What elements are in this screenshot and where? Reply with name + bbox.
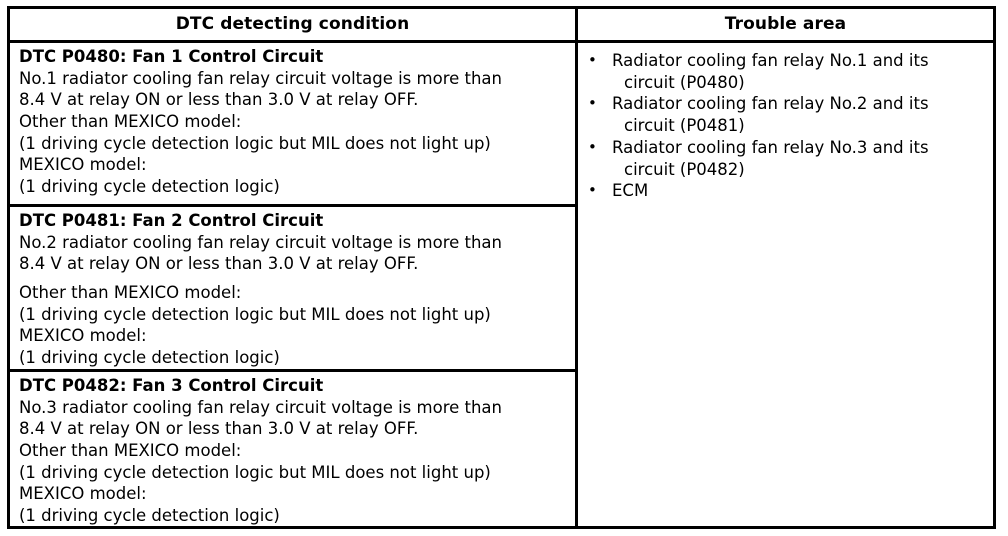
trouble-area-text: ECM (612, 180, 976, 202)
condition-line: (1 driving cycle detection logic) (19, 347, 575, 369)
condition-line: MEXICO model: (19, 325, 575, 347)
list-item: • ECM (586, 180, 985, 202)
condition-line: (1 driving cycle detection logic but MIL… (19, 304, 575, 326)
condition-line: No.2 radiator cooling fan relay circuit … (19, 232, 575, 254)
condition-line: Other than MEXICO model: (19, 111, 575, 133)
condition-line: 8.4 V at relay ON or less than 3.0 V at … (19, 253, 575, 275)
table-row: DTC P0482: Fan 3 Control Circuit No.3 ra… (10, 372, 575, 527)
condition-line: MEXICO model: (19, 483, 575, 505)
table-header-row: DTC detecting condition Trouble area (10, 9, 993, 43)
column-dtc-detecting-condition: DTC P0480: Fan 1 Control Circuit No.1 ra… (10, 43, 578, 526)
list-item: • Radiator cooling fan relay No.2 and it… (586, 93, 985, 136)
bullet-icon: • (588, 50, 598, 72)
dtc-table: DTC detecting condition Trouble area DTC… (7, 6, 996, 529)
trouble-area-list: • Radiator cooling fan relay No.1 and it… (586, 50, 985, 202)
condition-line: MEXICO model: (19, 154, 575, 176)
column-header-dtc-detecting-condition: DTC detecting condition (10, 9, 578, 40)
page-root: DTC detecting condition Trouble area DTC… (0, 0, 1008, 536)
list-item: • Radiator cooling fan relay No.1 and it… (586, 50, 985, 93)
condition-line: (1 driving cycle detection logic but MIL… (19, 133, 575, 155)
bullet-icon: • (588, 93, 598, 115)
condition-line: No.1 radiator cooling fan relay circuit … (19, 68, 575, 90)
list-item: • Radiator cooling fan relay No.3 and it… (586, 137, 985, 180)
table-row: DTC P0480: Fan 1 Control Circuit No.1 ra… (10, 43, 575, 207)
trouble-area-text: Radiator cooling fan relay No.3 and its … (612, 137, 976, 180)
dtc-code-title: DTC P0482: Fan 3 Control Circuit (19, 375, 575, 397)
condition-line: (1 driving cycle detection logic but MIL… (19, 462, 575, 484)
condition-line: 8.4 V at relay ON or less than 3.0 V at … (19, 418, 575, 440)
table-body: DTC P0480: Fan 1 Control Circuit No.1 ra… (10, 43, 993, 526)
bullet-icon: • (588, 180, 598, 202)
column-trouble-area: • Radiator cooling fan relay No.1 and it… (578, 43, 993, 526)
condition-line: Other than MEXICO model: (19, 440, 575, 462)
condition-line: 8.4 V at relay ON or less than 3.0 V at … (19, 89, 575, 111)
trouble-area-text: Radiator cooling fan relay No.2 and its … (612, 93, 976, 136)
bullet-icon: • (588, 137, 598, 159)
condition-line: No.3 radiator cooling fan relay circuit … (19, 397, 575, 419)
dtc-code-title: DTC P0480: Fan 1 Control Circuit (19, 46, 575, 68)
condition-line: Other than MEXICO model: (19, 282, 575, 304)
table-row: DTC P0481: Fan 2 Control Circuit No.2 ra… (10, 207, 575, 372)
condition-line: (1 driving cycle detection logic) (19, 505, 575, 527)
trouble-area-text: Radiator cooling fan relay No.1 and its … (612, 50, 976, 93)
dtc-code-title: DTC P0481: Fan 2 Control Circuit (19, 210, 575, 232)
condition-line: (1 driving cycle detection logic) (19, 176, 575, 198)
column-header-trouble-area: Trouble area (578, 9, 993, 40)
